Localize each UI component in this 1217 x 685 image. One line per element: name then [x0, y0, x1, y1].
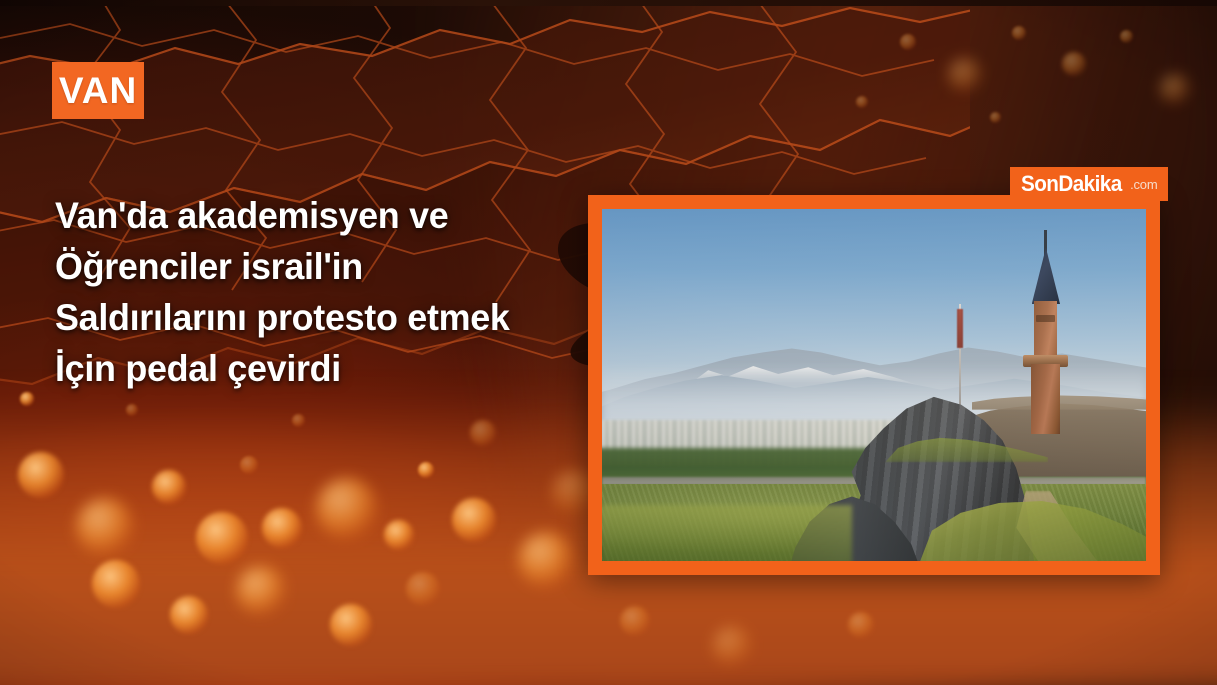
- province-badge-label: VAN: [59, 72, 137, 109]
- sondakika-logo: SonDakika .com: [1010, 167, 1168, 201]
- province-badge: VAN: [52, 62, 144, 119]
- headline-line-1: Van'da akademisyen ve: [55, 190, 584, 241]
- photo-frame: [588, 195, 1160, 575]
- headline: Van'da akademisyen ve Öğrenciler israil'…: [55, 190, 600, 394]
- minaret-ornament: [1036, 315, 1054, 322]
- minaret-shaft-lower: [1031, 364, 1060, 434]
- headline-line-4: İçin pedal çevirdi: [55, 343, 584, 394]
- photo-image: [602, 209, 1146, 561]
- news-graphic-card: VAN Van'da akademisyen ve Öğrenciler isr…: [0, 0, 1217, 685]
- headline-line-2: Öğrenciler israil'in: [55, 241, 584, 292]
- headline-line-3: Saldırılarını protesto etmek: [55, 292, 584, 343]
- logo-brand-text: SonDakika: [1021, 173, 1122, 195]
- top-edge-strip: [0, 0, 1217, 6]
- logo-tld-text: .com: [1130, 178, 1157, 191]
- grass-foreground: [602, 505, 852, 561]
- flag: [957, 309, 963, 348]
